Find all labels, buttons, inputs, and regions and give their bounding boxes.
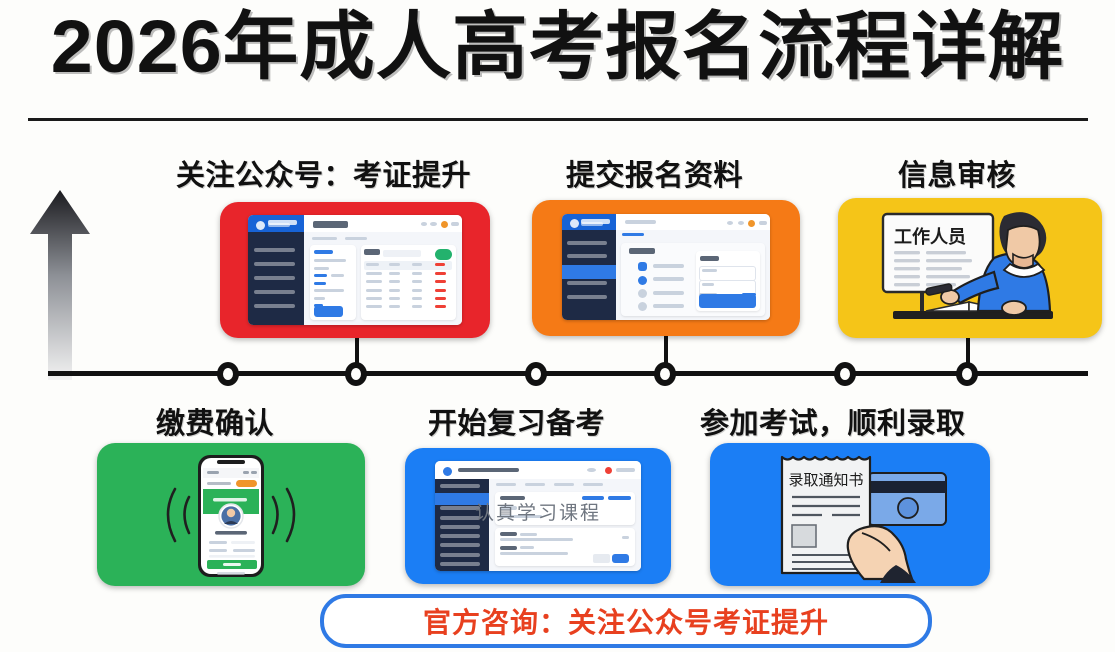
course-overlay-caption: 认真学习课程 xyxy=(405,498,671,525)
step-label-payment-confirm: 缴费确认 xyxy=(156,400,274,442)
progress-arrow xyxy=(28,190,92,380)
dash-logo xyxy=(562,214,616,230)
dash-topbar xyxy=(616,214,770,231)
page-title: 2026年成人高考报名流程详解 xyxy=(0,8,1115,86)
step-label-exam-admission: 参加考试，顺利录取 xyxy=(700,400,966,442)
cta-banner[interactable]: 官方咨询：关注公众号考证提升 xyxy=(320,594,932,648)
step-label-follow-account: 关注公众号：考证提升 xyxy=(176,152,471,194)
step-card-submit-materials[interactable] xyxy=(532,200,800,336)
step-card-start-review[interactable]: 认真学习课程 xyxy=(405,448,671,584)
infographic-canvas: 2026年成人高考报名流程详解 关注公众号：考证提升 提交报名资料 信息审核 xyxy=(0,0,1115,652)
cta-text: 官方咨询：关注公众号考证提升 xyxy=(423,601,829,641)
dash-content xyxy=(616,230,770,320)
dash-content xyxy=(304,232,462,326)
phone-payment-illustration xyxy=(97,443,365,586)
step-card-payment-confirm[interactable] xyxy=(97,443,365,586)
dash-sidebar xyxy=(562,230,616,320)
admission-letter-illustration: 录取通知书 xyxy=(710,443,990,586)
step-card-follow-account[interactable] xyxy=(220,202,490,338)
dash-logo xyxy=(248,215,304,232)
timeline-axis xyxy=(48,371,1088,376)
step-label-start-review: 开始复习备考 xyxy=(428,400,605,442)
dash-topbar xyxy=(304,215,462,233)
staff-illustration: 工作人员 xyxy=(838,198,1102,338)
timeline-node-1 xyxy=(217,362,239,386)
step-label-info-review: 信息审核 xyxy=(898,152,1016,194)
timeline-node-3 xyxy=(525,362,547,386)
timeline-node-5 xyxy=(834,362,856,386)
timeline-stem-1 xyxy=(355,336,359,366)
step-label-submit-materials: 提交报名资料 xyxy=(566,152,743,194)
admission-letter-caption: 录取通知书 xyxy=(788,472,863,489)
step-card-info-review[interactable]: 工作人员 xyxy=(838,198,1102,338)
dash-sidebar xyxy=(248,232,304,326)
dash-logo xyxy=(435,461,641,480)
timeline-stem-3 xyxy=(966,336,970,366)
step-card-exam-admission[interactable]: 录取通知书 xyxy=(710,443,990,586)
staff-board-caption: 工作人员 xyxy=(894,226,966,247)
title-divider xyxy=(28,118,1088,121)
timeline-stem-2 xyxy=(664,336,668,366)
